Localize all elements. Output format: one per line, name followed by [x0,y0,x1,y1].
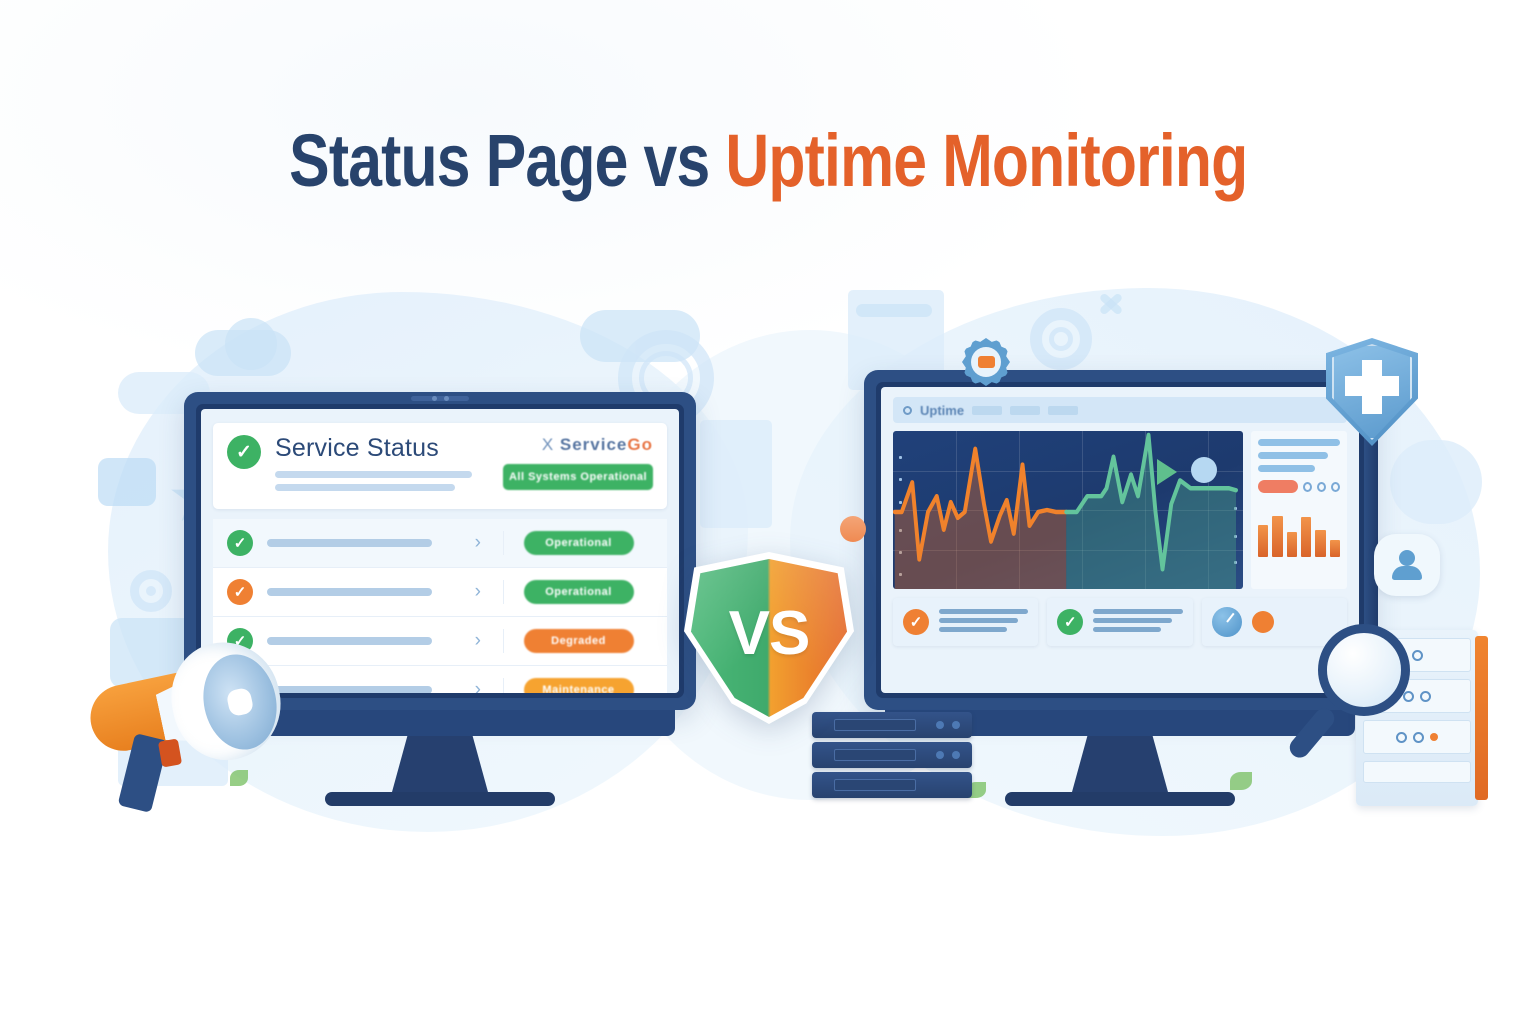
decor-puzzle-icon [98,458,156,506]
decor-cloud-icon [1390,440,1482,524]
check-circle-icon: ✓ [1057,609,1083,635]
circle-icon [1303,482,1312,492]
user-gear-icon [1374,534,1440,596]
page-title-part-orange: Uptime Monitoring [725,119,1247,202]
alert-dot-icon [840,516,866,542]
vs-badge: VS [684,552,854,724]
row-meta: › [475,630,481,652]
check-circle-icon: ✓ [227,435,261,469]
shield-cross-icon [1326,338,1418,446]
dashboard-title: Uptime [920,403,964,418]
monitor-stand-base [1005,792,1235,806]
circle-icon [1331,482,1340,492]
response-time-chart [893,431,1243,589]
dashboard-toolbar[interactable]: Uptime [893,397,1347,423]
vs-label: VS [684,552,854,724]
metrics-side-panel [1251,431,1347,589]
row-meta: › [475,679,481,693]
circle-icon [1317,482,1326,492]
status-badge: Operational [524,580,634,604]
monitor-stand-neck [1072,736,1168,792]
status-indicator-dot [1191,457,1217,483]
row-meta: › [475,532,481,554]
brand-logo-text: X ServiceGo [503,435,653,455]
gear-badge-icon [962,338,1010,386]
chart-svg [893,431,1243,589]
decor-panel [700,420,772,528]
alert-pill [1258,480,1298,493]
check-circle-icon: ✓ [227,530,253,556]
summary-card[interactable]: ✓ [1047,598,1192,646]
decor-gear-icon [130,570,172,612]
overall-status-badge: All Systems Operational [503,464,653,490]
megaphone-icon [64,636,304,816]
decor-panel [856,304,932,317]
illustration-canvas: Status Page vs Uptime Monitoring ✓ [0,0,1536,1024]
alert-icon [1252,611,1274,633]
play-icon[interactable] [1157,459,1177,485]
table-row[interactable]: ✓ › Operational [213,519,667,568]
webcam-indicator [411,396,469,401]
record-icon [903,406,912,415]
monitor-stand-neck [392,736,488,792]
page-title: Status Page vs Uptime Monitoring [0,118,1536,203]
magnifier-icon [1294,624,1424,760]
row-meta: › [475,581,481,603]
server-stack-icon [812,712,972,806]
summary-cards-row: ✓ ✓ [893,598,1347,646]
check-circle-icon: ✓ [227,579,253,605]
status-badge: Degraded [524,629,634,653]
decor-cloud-icon [225,318,277,370]
uptime-dashboard-screen: Uptime [881,387,1359,693]
monitor-stand-base [325,792,555,806]
page-title-service-status: Service Status [275,435,489,461]
service-status-header-card: ✓ Service Status X ServiceGo [213,423,667,509]
check-circle-icon: ✓ [903,609,929,635]
decor-gear-icon [1030,308,1092,370]
page-title-part-navy: Status Page vs [289,119,725,202]
table-row[interactable]: ✓ › Operational [213,568,667,617]
shield-pole [1364,430,1378,650]
status-badge: Maintenance [524,678,634,693]
summary-card[interactable]: ✓ [893,598,1038,646]
status-badge: Operational [524,531,634,555]
gauge-icon [1212,607,1242,637]
side-bar-chart [1258,505,1340,557]
